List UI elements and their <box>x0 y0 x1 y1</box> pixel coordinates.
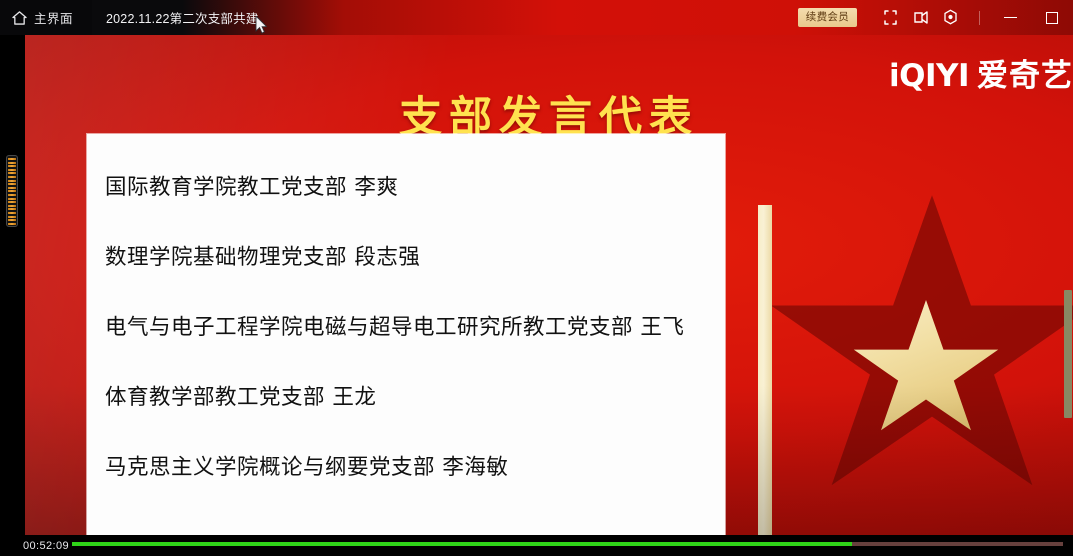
speaker-line: 马克思主义学院概论与纲要党支部 李海敏 <box>105 452 707 483</box>
slide-content-card: 国际教育学院教工党支部 李爽 数理学院基础物理党支部 段志强 电气与电子工程学院… <box>87 134 725 535</box>
video-viewport[interactable]: 支部发言代表 国际教育学院教工党支部 李爽 数理学院基础物理党支部 段志强 电气… <box>0 35 1073 535</box>
home-icon <box>12 11 27 25</box>
speaker-line: 数理学院基础物理党支部 段志强 <box>105 242 707 273</box>
maximize-icon <box>1046 12 1058 24</box>
iqiyi-watermark-cn: 爱奇艺 <box>977 50 1073 95</box>
iqiyi-watermark: iQIYI 爱奇艺 <box>889 50 1073 95</box>
progress-bar-fill <box>72 542 852 546</box>
crop-screenshot-icon[interactable] <box>875 0 905 35</box>
presentation-slide: 支部发言代表 国际教育学院教工党支部 李爽 数理学院基础物理党支部 段志强 电气… <box>25 35 1073 535</box>
tab-active-video[interactable]: 2022.11.22第二次支部共建 <box>106 0 259 35</box>
settings-gear-icon[interactable] <box>935 0 965 35</box>
page-scrollbar[interactable] <box>1064 35 1073 535</box>
speaker-line: 电气与电子工程学院电磁与超导电工研究所教工党支部 王飞 <box>105 312 707 343</box>
renew-vip-button[interactable]: 续费会员 <box>798 8 857 27</box>
speaker-line: 国际教育学院教工党支部 李爽 <box>105 172 707 203</box>
iqiyi-watermark-en: iQIYI <box>889 58 969 94</box>
decorative-gold-band-left <box>758 205 772 535</box>
cast-icon[interactable] <box>905 0 935 35</box>
left-edge-striped-bar <box>6 155 18 227</box>
page-scrollbar-thumb[interactable] <box>1064 290 1072 418</box>
tab-active-video-label: 2022.11.22第二次支部共建 <box>106 8 259 27</box>
player-bottom-bar: 00:52:09 <box>0 535 1073 556</box>
progress-bar-track[interactable] <box>72 542 1063 546</box>
window-titlebar: 主界面 2022.11.22第二次支部共建 续费会员 <box>0 0 1073 35</box>
minimize-button[interactable] <box>989 0 1031 35</box>
minimize-icon <box>1004 17 1017 19</box>
mouse-cursor-icon <box>255 16 267 34</box>
titlebar-divider <box>979 11 980 25</box>
speaker-line: 体育教学部教工党支部 王龙 <box>105 382 707 413</box>
titlebar-controls: 续费会员 <box>798 0 1073 35</box>
maximize-button[interactable] <box>1031 0 1073 35</box>
home-tab-label: 主界面 <box>34 8 73 27</box>
iqiyi-player-window: 主界面 2022.11.22第二次支部共建 续费会员 <box>0 0 1073 556</box>
home-tab[interactable]: 主界面 <box>0 0 92 35</box>
